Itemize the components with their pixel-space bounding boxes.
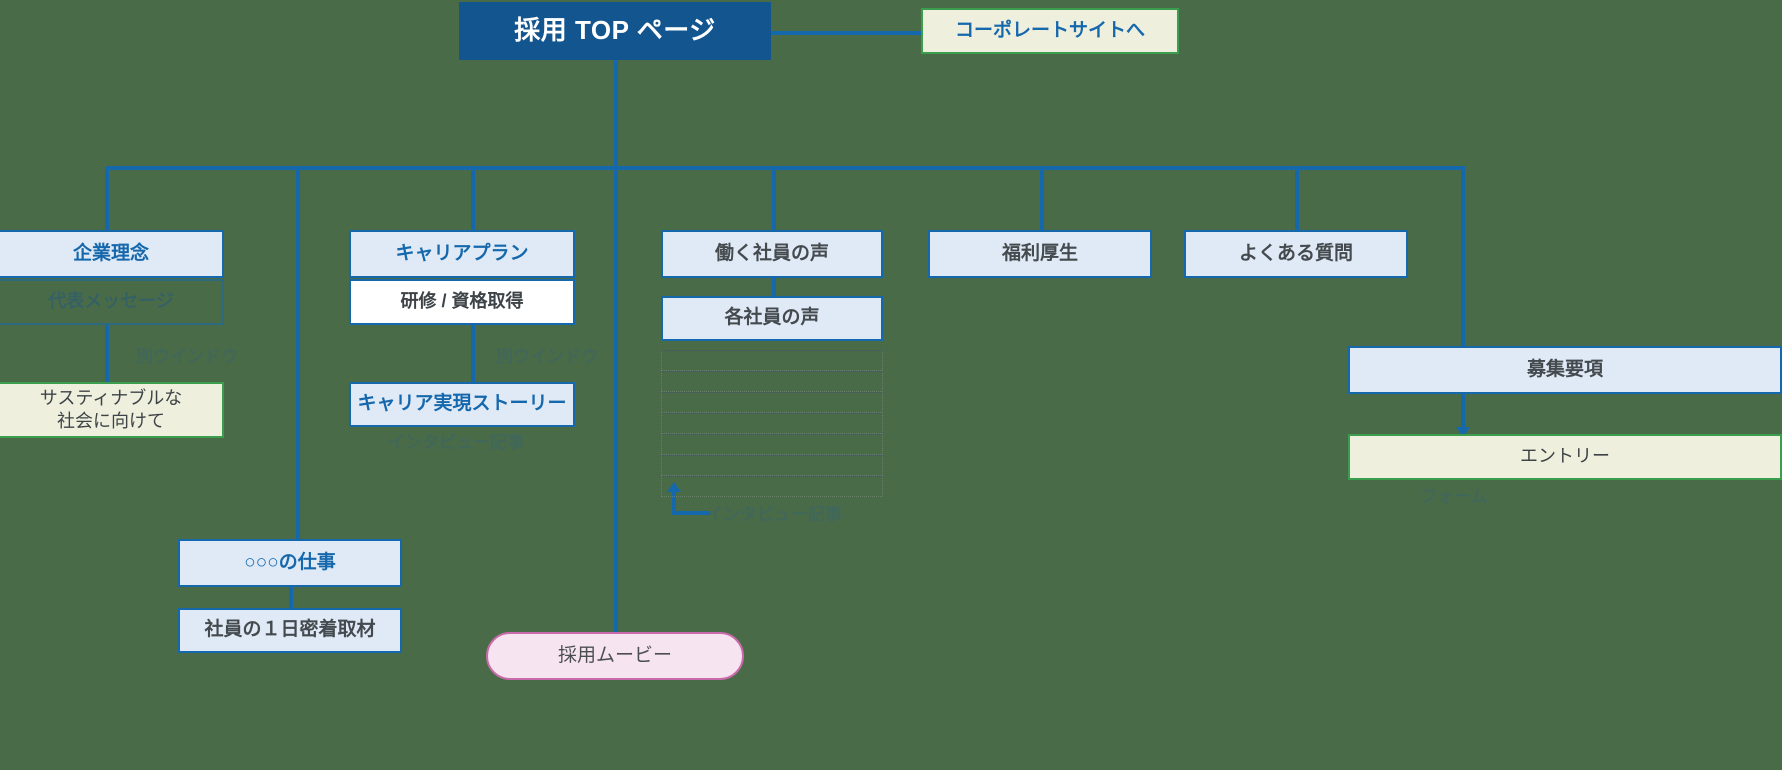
annotation-form: フォーム [1420,482,1488,507]
node-jobs[interactable]: ○○○の仕事 [178,539,402,587]
node-each-employee-voice-label: 各社員の声 [724,306,819,331]
connector-drop-voices [772,166,776,230]
connector-drop-benefits [1040,166,1044,230]
node-recruit-movie[interactable]: 採用ムービー [486,632,744,680]
node-ceo-message-label: 代表メッセージ [48,290,174,313]
node-recruit-movie-label: 採用ムービー [558,644,672,669]
node-career-story-label: キャリア実現ストーリー [357,392,566,417]
connector-drop-recruit [1461,166,1465,350]
node-employee-voices[interactable]: 働く社員の声 [661,230,883,278]
node-entry-label: エントリー [1520,445,1610,468]
ghost-voice-row [661,371,883,392]
ghost-voice-row [661,350,883,371]
connector-drop-career [471,166,475,230]
connector-voices-to-each [772,278,776,296]
node-sustainable-society[interactable]: サスティナブルな 社会に向けて [0,382,224,438]
ghost-voice-row [661,455,883,476]
node-career-plan-label: キャリアプラン [395,242,528,267]
node-ceo-message[interactable]: 代表メッセージ [0,279,224,325]
connector-drop-faq [1295,166,1299,230]
ghost-voice-row [661,476,883,497]
node-training-certification-label: 研修 / 資格取得 [400,290,523,313]
connector-drop-jobs [296,166,300,540]
node-recruit-requirements[interactable]: 募集要項 [1348,346,1782,394]
node-entry[interactable]: エントリー [1348,434,1782,480]
connector-drop-philosophy [105,166,109,230]
ghost-voice-row [661,392,883,413]
connector-root-corporate [770,31,922,35]
sitemap-diagram: 採用 TOP ページ コーポレートサイトへ 企業理念 代表メッセージ 別ウインド… [0,0,1782,770]
connector-career-to-story [471,325,475,383]
node-corporate-site[interactable]: コーポレートサイトへ [921,8,1179,54]
node-day-in-life-coverage[interactable]: 社員の１日密着取材 [178,608,402,653]
node-benefits[interactable]: 福利厚生 [928,230,1152,278]
connector-philosophy-to-sustainable [105,325,109,383]
annotation-interview-career: インタビュー記事 [388,428,524,453]
node-philosophy[interactable]: 企業理念 [0,230,224,278]
node-day-in-life-coverage-label: 社員の１日密着取材 [204,618,375,643]
annotation-new-window-philosophy: 別ウインドウ [136,342,238,367]
node-recruit-requirements-label: 募集要項 [1527,358,1603,383]
node-jobs-label: ○○○の仕事 [244,551,335,576]
node-employee-voices-label: 働く社員の声 [715,242,829,267]
node-career-story[interactable]: キャリア実現ストーリー [349,382,575,427]
node-benefits-label: 福利厚生 [1002,242,1078,267]
connector-root-down [614,60,618,168]
node-faq-label: よくある質問 [1239,242,1353,267]
connector-drop-movie [614,166,618,634]
node-corporate-site-label: コーポレートサイトへ [955,19,1145,44]
node-each-employee-voice[interactable]: 各社員の声 [661,296,883,341]
node-faq[interactable]: よくある質問 [1184,230,1408,278]
annotation-interview-voices: インタビュー記事 [706,500,842,525]
connector-interview-arrow-base [672,511,710,515]
ghost-voice-row [661,434,883,455]
connector-jobs-to-coverage [289,587,293,609]
node-training-certification[interactable]: 研修 / 資格取得 [349,279,575,325]
connector-main-bus [105,166,1463,170]
ghost-voice-row [661,413,883,434]
node-root-label: 採用 TOP ページ [514,14,715,48]
annotation-new-window-career: 別ウインドウ [496,342,598,367]
node-sustainable-society-label: サスティナブルな 社会に向けて [40,387,183,434]
node-philosophy-label: 企業理念 [73,242,149,267]
node-career-plan[interactable]: キャリアプラン [349,230,575,278]
node-root-recruit-top[interactable]: 採用 TOP ページ [459,2,771,60]
